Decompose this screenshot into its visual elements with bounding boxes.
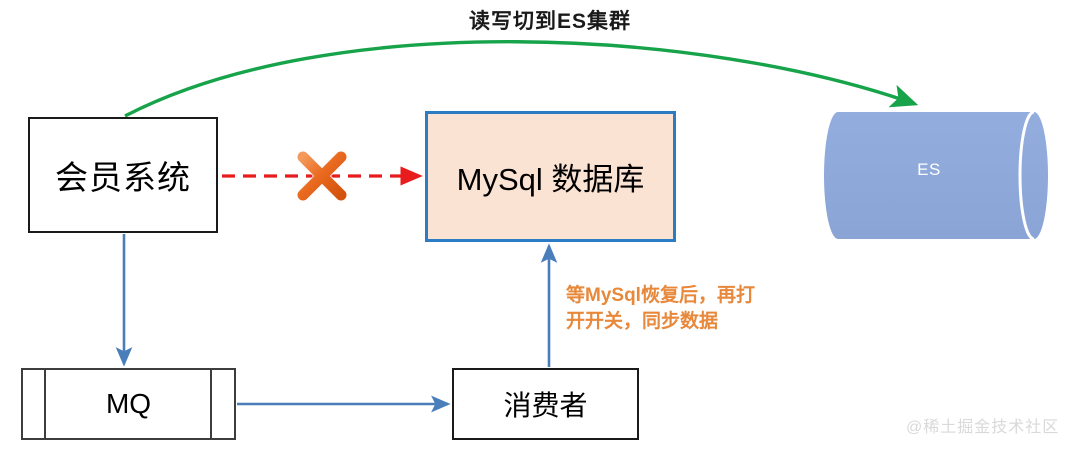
watermark: @稀土掘金技术社区 xyxy=(906,413,1059,437)
annotation-line-2: 开开关，同步数据 xyxy=(566,309,801,335)
node-mq-label: MQ xyxy=(106,388,151,420)
annotation-mysql-recovery: 等MySql恢复后，再打 开开关，同步数据 xyxy=(566,283,801,334)
node-mysql-database-label: MySql 数据库 xyxy=(457,154,645,199)
diagram-canvas: 读写切到ES集群 会员系统 MySql 数据库 ES MQ 消费者 等MySql… xyxy=(0,0,1080,452)
node-consumer-label: 消费者 xyxy=(503,384,587,424)
annotation-line-1: 等MySql恢复后，再打 xyxy=(566,283,801,309)
edge-member-to-es xyxy=(125,42,915,116)
node-member-system[interactable]: 会员系统 xyxy=(28,117,218,233)
node-member-system-label: 会员系统 xyxy=(55,151,191,199)
x-cross-icon xyxy=(293,147,351,205)
node-mysql-database[interactable]: MySql 数据库 xyxy=(425,111,676,242)
mq-right-divider xyxy=(210,370,212,438)
mq-left-divider xyxy=(44,370,46,438)
node-es-cluster-label: ES xyxy=(816,160,1042,180)
diagram-title: 读写切到ES集群 xyxy=(350,5,750,35)
node-consumer[interactable]: 消费者 xyxy=(452,368,639,440)
node-mq[interactable]: MQ xyxy=(21,368,236,440)
